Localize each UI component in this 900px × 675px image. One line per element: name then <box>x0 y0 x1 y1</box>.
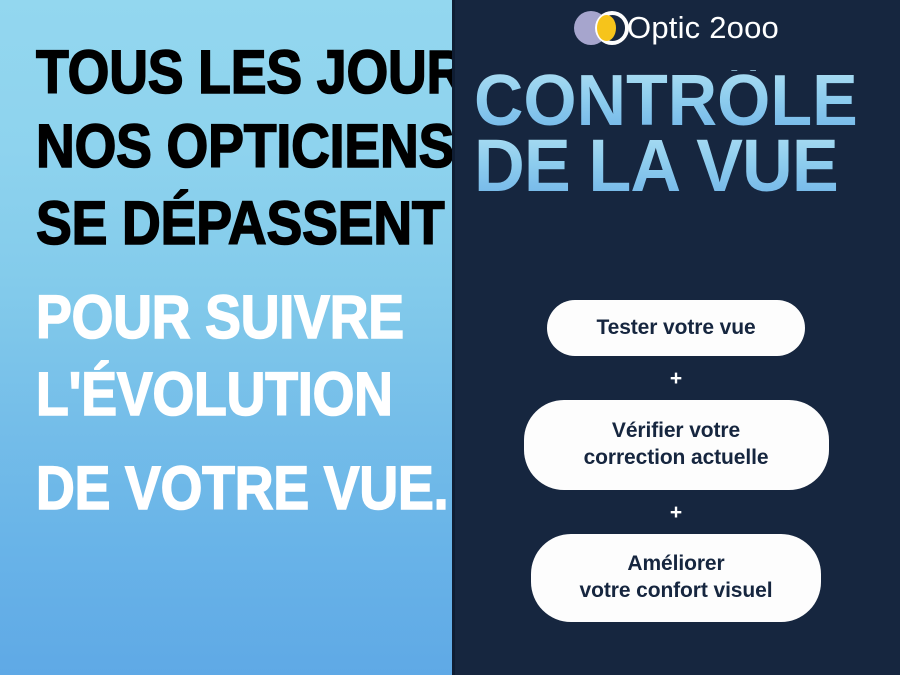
optic2000-logo-icon <box>573 8 633 48</box>
left-headline-line-4: POUR SUIVRE <box>36 287 388 347</box>
right-panel: Optic 2ooo CONTRÔLE DE LA VUE Tester vot… <box>452 0 900 675</box>
left-headline-line-3: SE DÉPASSENT <box>36 193 388 253</box>
campaign-title: CONTRÔLE DE LA VUE <box>452 70 900 198</box>
left-panel: TOUS LES JOURS NOS OPTICIENS SE DÉPASSEN… <box>0 0 452 675</box>
brand-logo[interactable]: Optic 2ooo <box>452 6 900 50</box>
panel-divider <box>452 0 455 675</box>
steps-list: Tester votre vue + Vérifier votre correc… <box>452 300 900 622</box>
brand-name: Optic 2ooo <box>627 10 779 46</box>
left-headline-line-5: L'ÉVOLUTION <box>36 364 388 424</box>
campaign-title-line-2: DE LA VUE <box>474 133 879 198</box>
left-headline-line-6: DE VOTRE VUE. <box>36 458 388 518</box>
step-button-ameliorer-confort[interactable]: Améliorer votre confort visuel <box>531 534 821 622</box>
step-separator-plus-1: + <box>670 356 682 400</box>
poster: TOUS LES JOURS NOS OPTICIENS SE DÉPASSEN… <box>0 0 900 675</box>
left-headline-line-2: NOS OPTICIENS <box>36 116 388 176</box>
step-button-verifier-correction[interactable]: Vérifier votre correction actuelle <box>524 400 829 490</box>
step-separator-plus-2: + <box>670 490 682 534</box>
step-button-tester-votre-vue[interactable]: Tester votre vue <box>547 300 805 356</box>
left-headline-line-1: TOUS LES JOURS <box>36 42 388 102</box>
logo-gold-crescent <box>597 15 616 41</box>
left-headline-block: TOUS LES JOURS NOS OPTICIENS SE DÉPASSEN… <box>36 42 436 518</box>
